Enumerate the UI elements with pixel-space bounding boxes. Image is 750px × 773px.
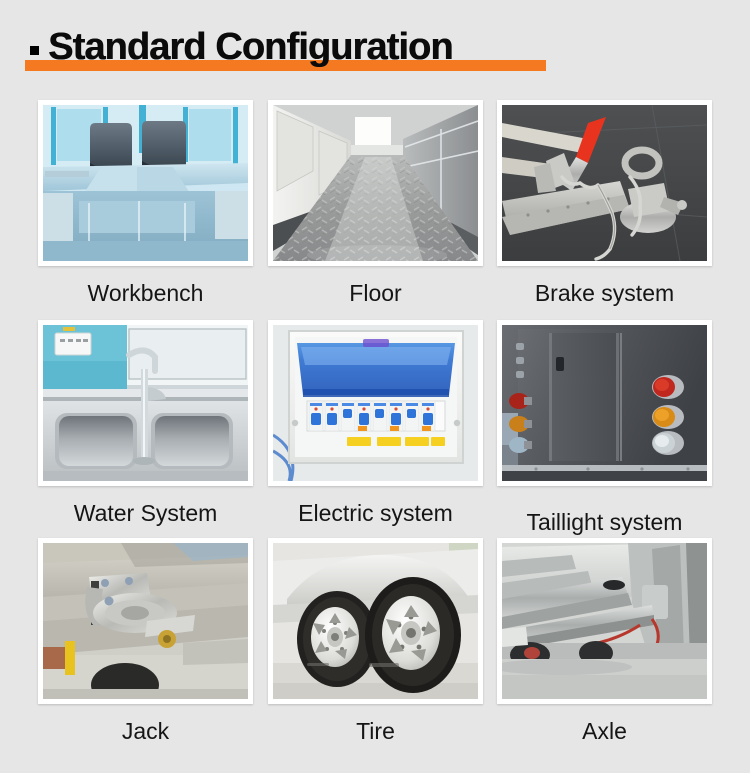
electric-system-photo [273, 325, 478, 481]
grid-item-tire[interactable]: Tire [268, 538, 483, 704]
grid-item-brake-system[interactable]: Brake system [497, 100, 712, 266]
photo-frame [268, 320, 483, 486]
grid-row: Jack [0, 530, 750, 750]
grid-item-floor[interactable]: Floor [268, 100, 483, 266]
photo-frame [268, 538, 483, 704]
taillight-system-photo [502, 325, 707, 481]
grid-item-taillight-system[interactable]: Taillight system [497, 320, 712, 486]
grid-row: Workbench [0, 92, 750, 312]
grid-item-label: Floor [268, 281, 483, 306]
grid-item-label: Electric system [268, 501, 483, 526]
floor-photo [273, 105, 478, 261]
page-title: Standard Configuration [48, 28, 453, 66]
photo-frame [38, 320, 253, 486]
grid-item-electric-system[interactable]: Electric system [268, 320, 483, 486]
tire-photo [273, 543, 478, 699]
photo-frame [38, 100, 253, 266]
grid-item-jack[interactable]: Jack [38, 538, 253, 704]
photo-frame [38, 538, 253, 704]
photo-frame [497, 100, 712, 266]
page-header: Standard Configuration [0, 0, 750, 92]
grid-item-label: Brake system [497, 281, 712, 306]
grid-item-axle[interactable]: Axle [497, 538, 712, 704]
photo-frame [497, 320, 712, 486]
bullet-square-icon [30, 46, 39, 55]
title-row: Standard Configuration [30, 28, 453, 66]
grid-item-label: Jack [38, 719, 253, 744]
workbench-photo [43, 105, 248, 261]
water-system-photo [43, 325, 248, 481]
photo-frame [268, 100, 483, 266]
brake-system-photo [502, 105, 707, 261]
grid-item-water-system[interactable]: Water System [38, 320, 253, 486]
grid-row: Water System [0, 312, 750, 532]
photo-frame [497, 538, 712, 704]
grid-item-label: Axle [497, 719, 712, 744]
grid-item-workbench[interactable]: Workbench [38, 100, 253, 266]
jack-photo [43, 543, 248, 699]
grid-item-label: Tire [268, 719, 483, 744]
grid-item-label: Workbench [38, 281, 253, 306]
axle-photo [502, 543, 707, 699]
configuration-grid: Workbench [0, 92, 750, 773]
grid-item-label: Water System [38, 501, 253, 526]
